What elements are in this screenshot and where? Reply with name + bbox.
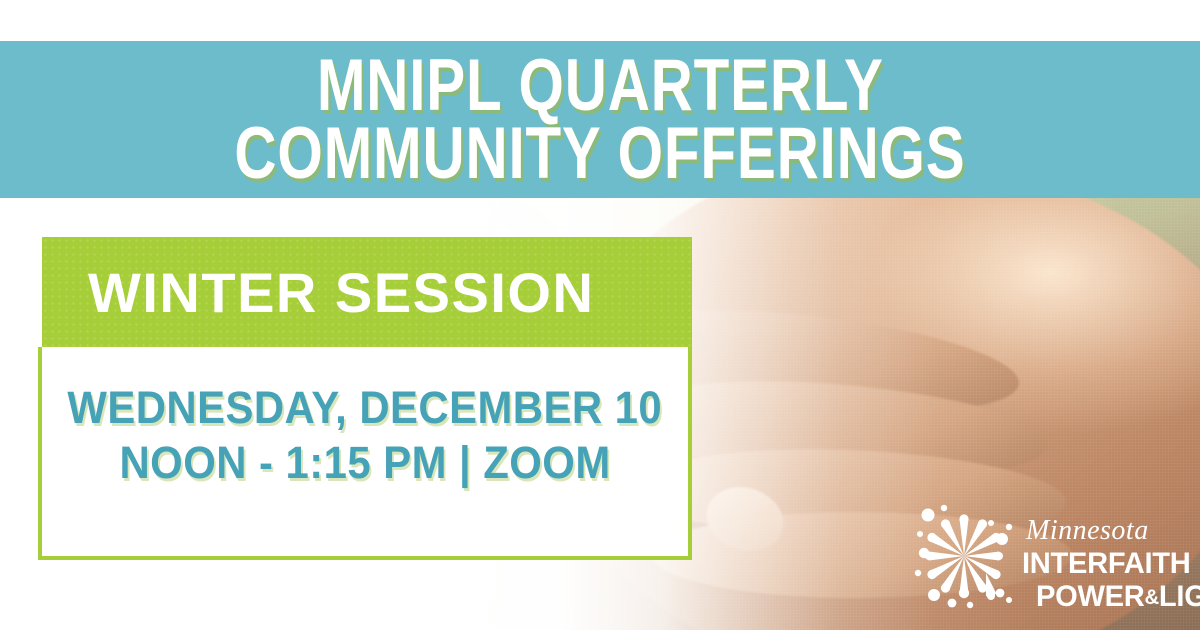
logo-ampersand: & [1144,586,1158,609]
promo-poster: MNIPL QUARTERLY COMMUNITY OFFERINGS WINT… [0,0,1200,630]
session-details-box: WEDNESDAY, DECEMBER 10 NOON - 1:15 PM | … [38,347,692,560]
logo-wordmark: Minnesota INTERFAITH POWER&LIGHT [1022,501,1200,612]
organization-logo: Minnesota INTERFAITH POWER&LIGHT [912,498,1188,614]
logo-power-word: POWER [1036,580,1144,613]
banner-title-line-2: COMMUNITY OFFERINGS [234,123,965,184]
title-banner: MNIPL QUARTERLY COMMUNITY OFFERINGS [0,41,1200,198]
banner-title-line-1: MNIPL QUARTERLY [317,55,884,116]
session-badge: WINTER SESSION [42,237,692,347]
logo-power-and-light-line: POWER&LIGHT [1036,582,1200,612]
session-time-and-platform: NOON - 1:15 PM | ZOOM [119,440,610,485]
session-badge-label: WINTER SESSION [88,260,594,325]
logo-light-word: LIGHT [1159,580,1200,613]
sunburst-icon [912,501,1016,611]
logo-interfaith-line: INTERFAITH [1022,549,1200,579]
session-date: WEDNESDAY, DECEMBER 10 [68,385,663,430]
logo-state-name: Minnesota [1026,517,1200,545]
